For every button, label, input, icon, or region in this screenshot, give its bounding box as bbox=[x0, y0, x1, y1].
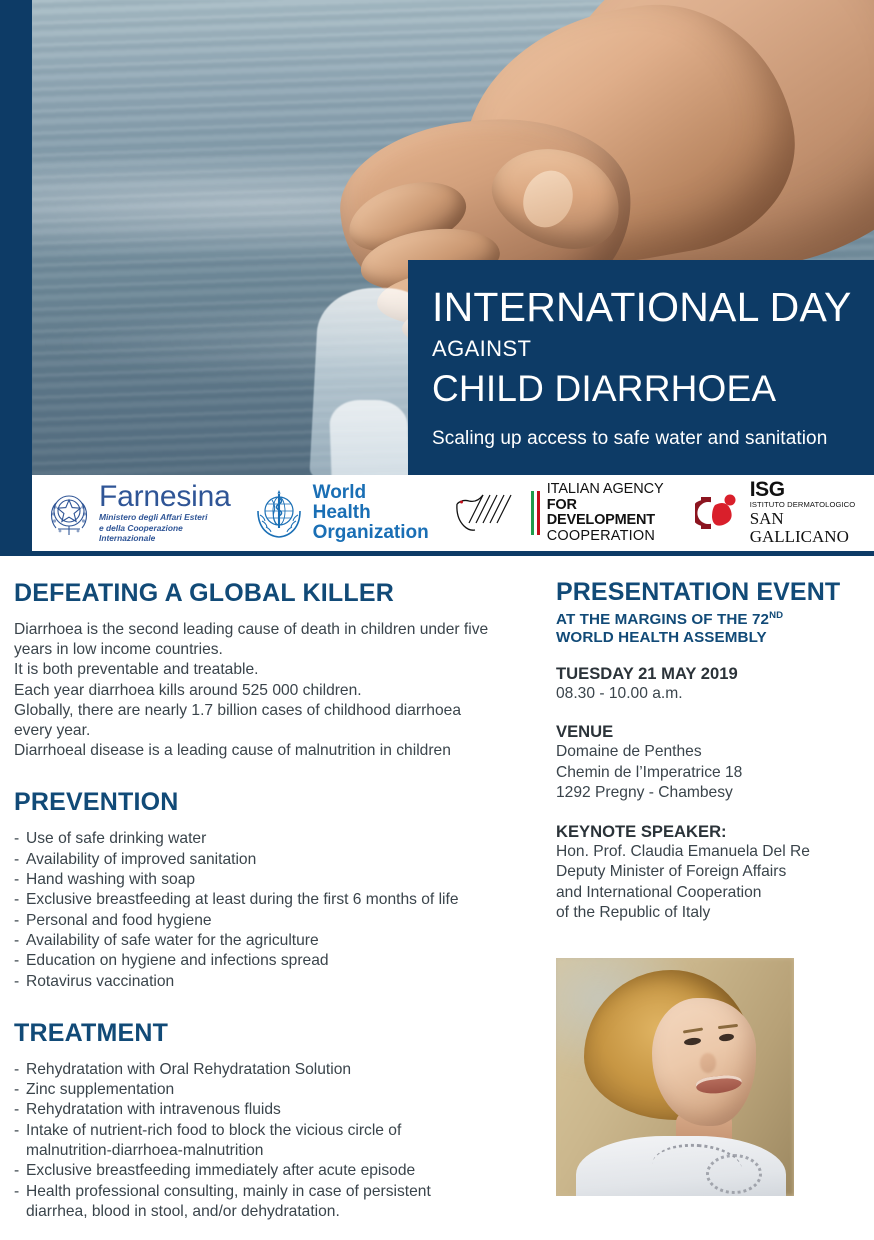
who-line-2: Organization bbox=[313, 523, 429, 543]
event-time: 08.30 - 10.00 a.m. bbox=[556, 684, 864, 704]
italian-flag-bars-icon bbox=[531, 491, 540, 535]
event-date: TUESDAY 21 MAY 2019 bbox=[556, 663, 864, 684]
aics-line-1: ITALIAN AGENCY bbox=[547, 482, 673, 498]
title-block: INTERNATIONAL DAY AGAINST CHILD DIARRHOE… bbox=[408, 260, 874, 475]
event-datetime: TUESDAY 21 MAY 2019 08.30 - 10.00 a.m. bbox=[556, 663, 864, 704]
italian-republic-emblem-icon bbox=[46, 487, 92, 539]
heading-treatment: TREATMENT bbox=[14, 1018, 544, 1048]
venue-heading: VENUE bbox=[556, 721, 864, 742]
paragraph-line: every year. bbox=[14, 721, 544, 741]
speaker-line: of the Republic of Italy bbox=[556, 903, 864, 923]
left-content-column: DEFEATING A GLOBAL KILLER Diarrhoea is t… bbox=[14, 578, 544, 1222]
venue-line: Chemin de l’Imperatrice 18 bbox=[556, 763, 864, 783]
water-stream-mid-icon bbox=[329, 400, 413, 475]
left-blue-band bbox=[0, 0, 32, 556]
farnesina-sub-1: Ministero degli Affari Esteri bbox=[99, 512, 231, 522]
dove-lines-icon bbox=[453, 490, 527, 536]
list-item: Exclusive breastfeeding immediately afte… bbox=[14, 1161, 544, 1181]
speaker-heading: KEYNOTE SPEAKER: bbox=[556, 821, 864, 842]
list-item: Rehydratation with Oral Rehydratation So… bbox=[14, 1060, 544, 1080]
list-item: Availability of safe water for the agric… bbox=[14, 931, 544, 951]
list-item: Hand washing with soap bbox=[14, 870, 544, 890]
event-subtitle-line-2: WORLD HEALTH ASSEMBLY bbox=[556, 629, 864, 647]
portrait-nose bbox=[700, 1053, 716, 1073]
farnesina-sub-2: e della Cooperazione Internazionale bbox=[99, 523, 231, 544]
title-line-1: INTERNATIONAL DAY bbox=[432, 282, 874, 332]
logo-farnesina: Farnesina Ministero degli Affari Esteri … bbox=[46, 475, 231, 551]
paragraph-line: Globally, there are nearly 1.7 billion c… bbox=[14, 701, 544, 721]
treatment-list: Rehydratation with Oral Rehydratation So… bbox=[14, 1060, 544, 1222]
speaker-line: Deputy Minister of Foreign Affairs bbox=[556, 862, 864, 882]
farnesina-text: Farnesina Ministero degli Affari Esteri … bbox=[99, 482, 231, 543]
list-item: Rehydratation with intravenous fluids bbox=[14, 1100, 544, 1120]
paragraph-line: It is both preventable and treatable. bbox=[14, 660, 544, 680]
header-banner: INTERNATIONAL DAY AGAINST CHILD DIARRHOE… bbox=[0, 0, 874, 556]
paragraph-line: Diarrhoeal disease is a leading cause of… bbox=[14, 741, 544, 761]
title-line-2: AGAINST bbox=[432, 332, 874, 366]
heading-defeating-global-killer: DEFEATING A GLOBAL KILLER bbox=[14, 578, 544, 608]
prevention-list: Use of safe drinking water Availability … bbox=[14, 829, 544, 991]
list-item: Zinc supplementation bbox=[14, 1080, 544, 1100]
heading-prevention: PREVENTION bbox=[14, 787, 544, 817]
section-treatment: TREATMENT Rehydratation with Oral Rehydr… bbox=[14, 1018, 544, 1222]
farnesina-name: Farnesina bbox=[99, 482, 231, 512]
event-subtitle-line-1: AT THE MARGINS OF THE 72ND bbox=[556, 607, 864, 629]
isg-emblem-icon bbox=[695, 491, 743, 535]
paragraph-line: Each year diarrhoea kills around 525 000… bbox=[14, 681, 544, 701]
isg-line-1: ISG bbox=[750, 480, 874, 500]
event-title: PRESENTATION EVENT bbox=[556, 578, 864, 607]
speaker-line: and International Cooperation bbox=[556, 883, 864, 903]
speaker-line: Hon. Prof. Claudia Emanuela Del Re bbox=[556, 842, 864, 862]
list-item: Availability of improved sanitation bbox=[14, 850, 544, 870]
aics-text: ITALIAN AGENCY FOR DEVELOPMENT COOPERATI… bbox=[547, 482, 673, 544]
venue-line: 1292 Pregny - Chambesy bbox=[556, 783, 864, 803]
aics-line-3: COOPERATION bbox=[547, 529, 673, 545]
logo-who: World Health Organization bbox=[253, 475, 429, 551]
list-item: Health professional consulting, mainly i… bbox=[14, 1182, 544, 1223]
isg-line-3: SAN GALLICANO bbox=[750, 510, 874, 546]
title-tagline: Scaling up access to safe water and sani… bbox=[432, 424, 874, 454]
intro-paragraph: Diarrhoea is the second leading cause of… bbox=[14, 620, 544, 761]
list-item: Education on hygiene and infections spre… bbox=[14, 951, 544, 971]
portrait-necklace-pendant bbox=[706, 1154, 762, 1194]
list-item: Exclusive breastfeeding at least during … bbox=[14, 890, 544, 910]
venue-line: Domaine de Penthes bbox=[556, 742, 864, 762]
poster-root: INTERNATIONAL DAY AGAINST CHILD DIARRHOE… bbox=[0, 0, 874, 1240]
logo-isg: ISG ISTITUTO DERMATOLOGICO SAN GALLICANO bbox=[695, 475, 874, 551]
keynote-speaker: KEYNOTE SPEAKER: Hon. Prof. Claudia Eman… bbox=[556, 821, 864, 924]
speaker-portrait-photo bbox=[556, 958, 794, 1196]
logo-bar: Farnesina Ministero degli Affari Esteri … bbox=[32, 475, 874, 551]
aics-line-2: FOR DEVELOPMENT bbox=[547, 498, 673, 529]
section-prevention: PREVENTION Use of safe drinking water Av… bbox=[14, 787, 544, 991]
event-venue: VENUE Domaine de Penthes Chemin de l’Imp… bbox=[556, 721, 864, 803]
title-line-3: CHILD DIARRHOEA bbox=[432, 366, 874, 412]
list-item: Rotavirus vaccination bbox=[14, 972, 544, 992]
logo-aics: ITALIAN AGENCY FOR DEVELOPMENT COOPERATI… bbox=[453, 475, 673, 551]
paragraph-line: years in low income countries. bbox=[14, 640, 544, 660]
list-item: Intake of nutrient-rich food to block th… bbox=[14, 1121, 544, 1162]
right-content-column: PRESENTATION EVENT AT THE MARGINS OF THE… bbox=[556, 578, 864, 923]
ordinal-suffix: ND bbox=[769, 610, 783, 621]
event-subtitle-text: AT THE MARGINS OF THE 72 bbox=[556, 611, 769, 628]
who-line-1: World Health bbox=[313, 483, 429, 523]
list-item: Personal and food hygiene bbox=[14, 911, 544, 931]
who-emblem-icon bbox=[253, 487, 305, 539]
who-text: World Health Organization bbox=[313, 483, 429, 543]
list-item: Use of safe drinking water bbox=[14, 829, 544, 849]
isg-text: ISG ISTITUTO DERMATOLOGICO SAN GALLICANO bbox=[750, 480, 874, 546]
paragraph-line: Diarrhoea is the second leading cause of… bbox=[14, 620, 544, 640]
section-defeating-global-killer: DEFEATING A GLOBAL KILLER Diarrhoea is t… bbox=[14, 578, 544, 761]
